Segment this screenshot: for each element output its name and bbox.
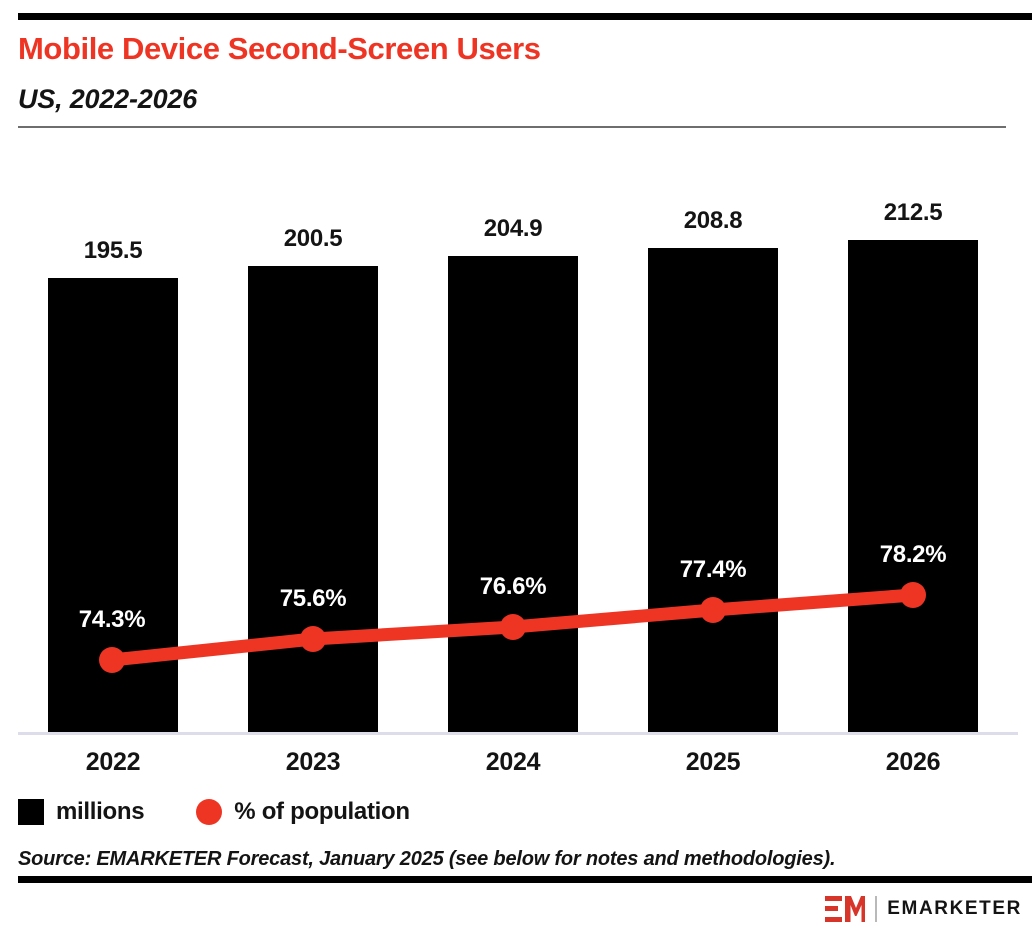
percent-point-2025 <box>700 597 726 623</box>
percent-value-label-2025: 77.4% <box>628 556 798 584</box>
percent-point-2023 <box>300 626 326 652</box>
percent-value-label-2026: 78.2% <box>828 541 998 569</box>
footer-divider <box>18 876 1032 883</box>
brand-wordmark: EMARKETER <box>887 898 1022 920</box>
legend-item-millions: millions <box>18 798 144 826</box>
percent-value-label-2024: 76.6% <box>428 573 598 601</box>
legend-label-percent: % of population <box>234 798 409 826</box>
chart-page: Mobile Device Second-Screen Users US, 20… <box>0 0 1032 934</box>
legend-item-percent: % of population <box>196 798 409 826</box>
percent-point-2024 <box>500 614 526 640</box>
em-logo-icon <box>825 896 865 922</box>
legend-circle-icon <box>196 799 222 825</box>
percent-point-2022 <box>99 647 125 673</box>
percent-point-2026 <box>900 582 926 608</box>
source-note: Source: EMARKETER Forecast, January 2025… <box>18 848 1008 871</box>
chart-legend: millions % of population <box>18 795 410 829</box>
legend-label-millions: millions <box>56 798 144 826</box>
brand-divider <box>875 896 877 922</box>
brand-logo: EMARKETER <box>825 892 1022 926</box>
legend-square-icon <box>18 799 44 825</box>
percent-line-series <box>0 0 1032 934</box>
percent-value-label-2023: 75.6% <box>228 585 398 613</box>
percent-value-label-2022: 74.3% <box>27 606 197 634</box>
